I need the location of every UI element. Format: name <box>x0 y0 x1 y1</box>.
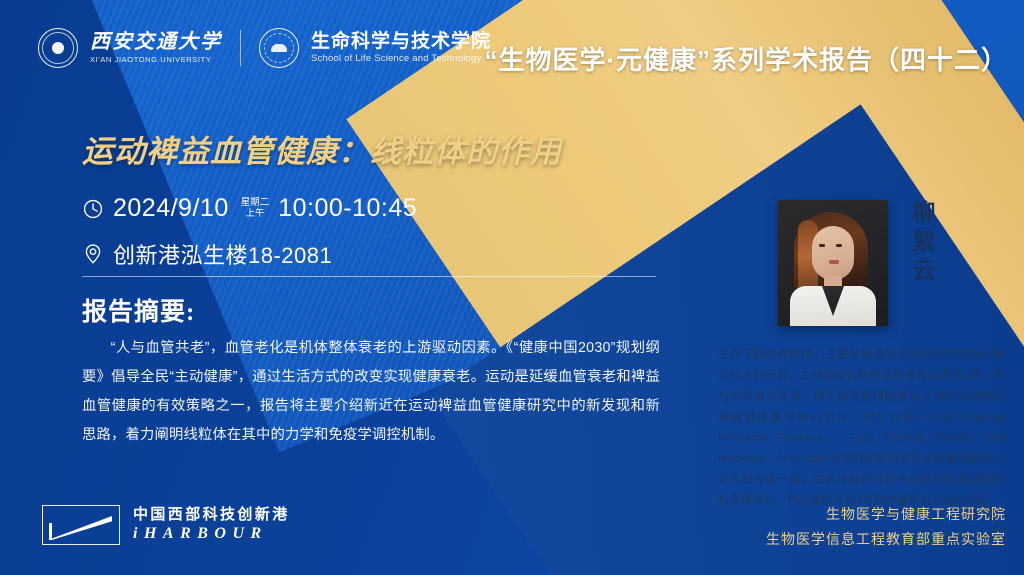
talk-ampm: 上午 <box>241 209 270 220</box>
university-seal-icon <box>38 28 78 68</box>
iharbour-name-en: iHARBOUR <box>133 524 290 544</box>
speaker-name: 柳絮云 <box>904 200 938 287</box>
talk-title: 运动裨益血管健康：线粒体的作用 <box>82 126 562 171</box>
abstract-heading: 报告摘要: <box>82 292 195 328</box>
iharbour-text: 中国西部科技创新港 iHARBOUR <box>133 506 290 544</box>
organizer-list: 生物医学与健康工程研究院 生物医学信息工程教育部重点实验室 <box>766 504 1006 553</box>
section-divider <box>82 276 656 277</box>
clock-icon <box>82 198 104 220</box>
logo-divider <box>240 30 241 66</box>
talk-time: 10:00-10:45 <box>278 194 417 223</box>
location-pin-icon <box>82 243 104 265</box>
talk-weekday: 星期二 <box>241 198 270 209</box>
university-logo-text: 西安交通大学 XI'AN JIAOTONG UNIVERSITY <box>90 32 222 64</box>
series-title: “生物医学·元健康”系列学术报告（四十二） <box>484 40 1008 77</box>
iharbour-footer-logo: 中国西部科技创新港 iHARBOUR <box>42 505 290 545</box>
seminar-poster: 西安交通大学 XI'AN JIAOTONG UNIVERSITY 生命科学与技术… <box>0 0 1024 575</box>
talk-weekday-ampm: 星期二 上午 <box>241 198 270 219</box>
speaker-portrait <box>778 200 888 326</box>
iharbour-name-cn: 中国西部科技创新港 <box>133 506 290 524</box>
school-logo-text: 生命科学与技术学院 School of Life Science and Tec… <box>311 32 491 65</box>
talk-location-row: 创新港泓生楼18-2081 <box>82 238 332 270</box>
talk-date: 2024/9/10 <box>113 194 229 223</box>
organizer-lab: 生物医学信息工程教育部重点实验室 <box>766 529 1006 554</box>
iharbour-logo-icon <box>42 505 120 545</box>
speaker-bio: 生命学院助理教授，主要从事血管衰老线粒体损伤机制及防治的研究，主持国家自然科学基… <box>718 345 1004 512</box>
talk-location: 创新港泓生楼18-2081 <box>113 238 332 270</box>
talk-datetime: 2024/9/10 星期二 上午 10:00-10:45 <box>82 194 417 223</box>
school-name-cn: 生命科学与技术学院 <box>311 32 491 52</box>
university-name-cn: 西安交通大学 <box>90 32 222 53</box>
abstract-body: “人与血管共老”，血管老化是机体整体衰老的上游驱动因素。《“健康中国2030”规… <box>82 334 660 450</box>
organizer-institute: 生物医学与健康工程研究院 <box>766 504 1006 529</box>
university-name-en: XI'AN JIAOTONG UNIVERSITY <box>90 55 222 64</box>
institution-logos: 西安交通大学 XI'AN JIAOTONG UNIVERSITY 生命科学与技术… <box>38 28 491 68</box>
school-emblem-icon <box>259 28 299 68</box>
school-name-en: School of Life Science and Technology <box>311 53 491 64</box>
